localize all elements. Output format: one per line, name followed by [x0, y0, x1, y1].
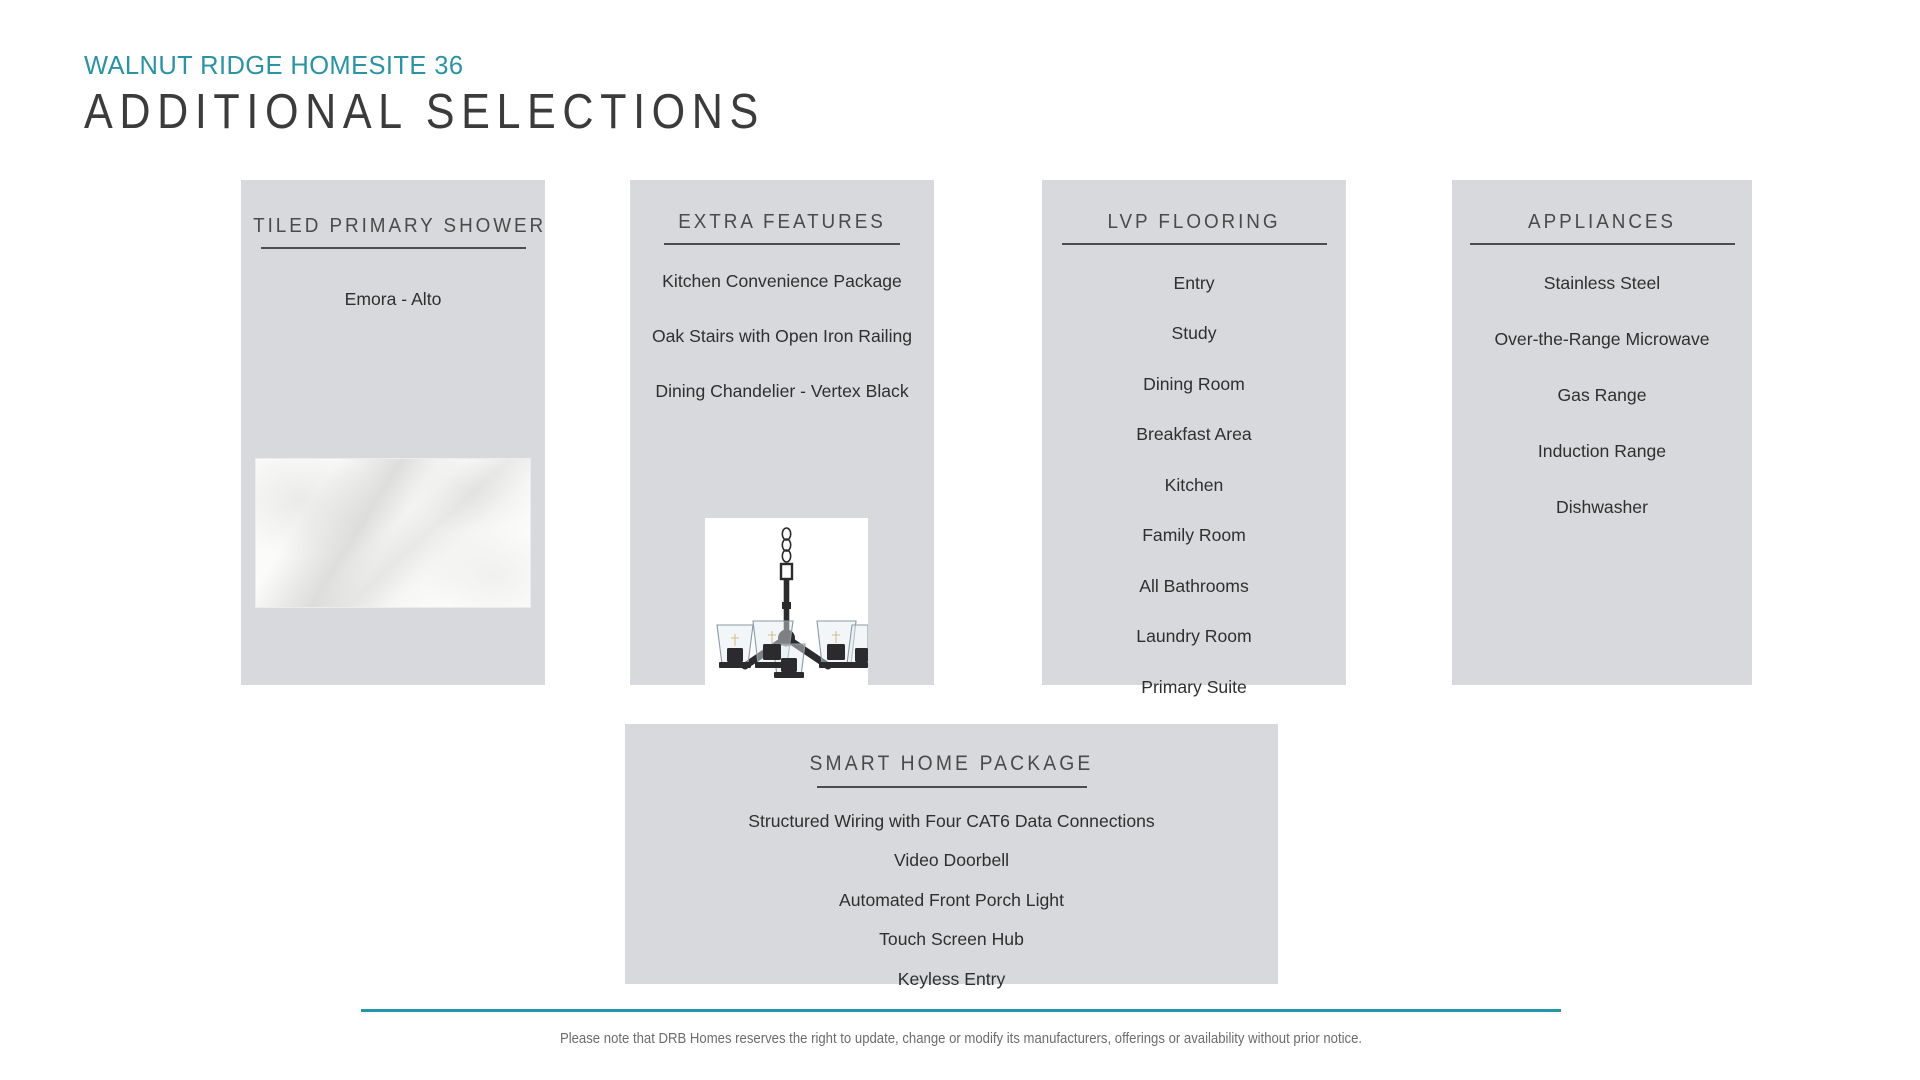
list-item: Breakfast Area	[1042, 422, 1346, 447]
card-appliances: APPLIANCES Stainless Steel Over-the-Rang…	[1452, 180, 1752, 685]
card-title-divider	[261, 247, 526, 249]
card-title-divider	[664, 243, 900, 245]
list-item: Family Room	[1042, 523, 1346, 548]
card-title-appliances: APPLIANCES	[1464, 210, 1740, 234]
community-homesite-label: WALNUT RIDGE HOMESITE 36	[84, 52, 858, 80]
card-title-tiled-primary-shower: TILED PRIMARY SHOWER	[253, 214, 533, 238]
extra-features-list: Kitchen Convenience Package Oak Stairs w…	[630, 269, 934, 404]
list-item: Keyless Entry	[625, 967, 1278, 992]
list-item: Kitchen	[1042, 473, 1346, 498]
shower-selection-item: Emora - Alto	[241, 289, 545, 310]
list-item: Primary Suite	[1042, 675, 1346, 700]
list-item: Structured Wiring with Four CAT6 Data Co…	[625, 809, 1278, 834]
list-item: Induction Range	[1452, 439, 1752, 464]
slide-header: WALNUT RIDGE HOMESITE 36 ADDITIONAL SELE…	[84, 52, 858, 138]
card-title-smart-home-package: SMART HOME PACKAGE	[651, 752, 1252, 776]
list-item: Dining Chandelier - Vertex Black	[644, 379, 920, 404]
smart-home-list: Structured Wiring with Four CAT6 Data Co…	[625, 809, 1278, 992]
chandelier-image	[705, 518, 868, 685]
card-lvp-flooring: LVP FLOORING Entry Study Dining Room Bre…	[1042, 180, 1346, 685]
card-smart-home-package: SMART HOME PACKAGE Structured Wiring wit…	[625, 724, 1278, 984]
card-title-lvp-flooring: LVP FLOORING	[1054, 210, 1334, 234]
list-item: Kitchen Convenience Package	[644, 269, 920, 294]
slide-canvas: WALNUT RIDGE HOMESITE 36 ADDITIONAL SELE…	[0, 0, 1920, 1080]
list-item: Oak Stairs with Open Iron Railing	[644, 324, 920, 349]
list-item: Automated Front Porch Light	[625, 888, 1278, 913]
card-title-divider	[1470, 243, 1735, 245]
list-item: All Bathrooms	[1042, 574, 1346, 599]
page-title: ADDITIONAL SELECTIONS	[84, 87, 765, 138]
list-item: Gas Range	[1452, 383, 1752, 408]
appliances-list: Stainless Steel Over-the-Range Microwave…	[1452, 271, 1752, 520]
list-item: Laundry Room	[1042, 624, 1346, 649]
list-item: Stainless Steel	[1452, 271, 1752, 296]
list-item: Study	[1042, 321, 1346, 346]
list-item: Video Doorbell	[625, 848, 1278, 873]
list-item: Dining Room	[1042, 372, 1346, 397]
card-title-extra-features: EXTRA FEATURES	[642, 210, 922, 234]
footer-disclaimer: Please note that DRB Homes reserves the …	[421, 1031, 1501, 1047]
card-extra-features: EXTRA FEATURES Kitchen Convenience Packa…	[630, 180, 934, 685]
card-title-divider	[817, 786, 1087, 788]
lvp-flooring-list: Entry Study Dining Room Breakfast Area K…	[1042, 271, 1346, 700]
footer-divider	[361, 1009, 1561, 1012]
chandelier-icon	[705, 518, 868, 685]
list-item: Touch Screen Hub	[625, 927, 1278, 952]
list-item: Dishwasher	[1452, 495, 1752, 520]
card-tiled-primary-shower: TILED PRIMARY SHOWER Emora - Alto	[241, 180, 545, 685]
list-item: Over-the-Range Microwave	[1452, 327, 1752, 352]
card-title-divider	[1062, 243, 1327, 245]
list-item: Entry	[1042, 271, 1346, 296]
marble-tile-swatch	[255, 458, 531, 608]
